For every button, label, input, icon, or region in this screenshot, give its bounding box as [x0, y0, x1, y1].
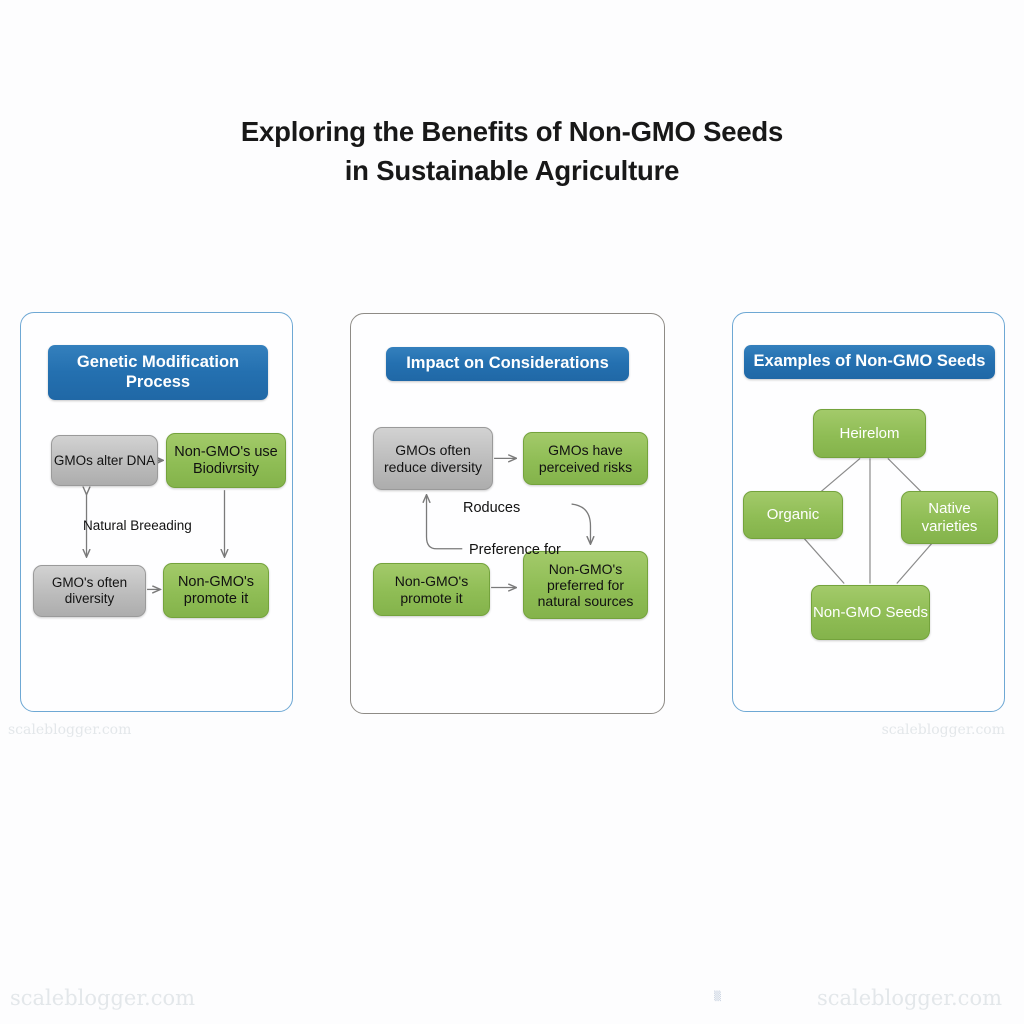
node-gmos-alter-dna[interactable]: GMOs alter DNA [51, 435, 158, 486]
node-gmos-often-diversity[interactable]: GMO's often diversity [33, 565, 146, 617]
node-heirloom[interactable]: Heirelom [813, 409, 926, 458]
node-nongmos-promote-it[interactable]: Non-GMO's promote it [373, 563, 490, 616]
node-gmos-have-perceived-risks[interactable]: GMOs have perceived risks [523, 432, 648, 485]
watermark-bottom-right: scaleblogger.com [817, 986, 1002, 1010]
panel-1-header: Genetic Modification Process [48, 345, 268, 400]
watermark-mid-right: scaleblogger.com [882, 722, 1005, 738]
node-gmos-often-reduce-diversity[interactable]: GMOs often reduce diversity [373, 427, 493, 490]
node-organic[interactable]: Organic [743, 491, 843, 539]
panel-genetic-modification-process: Genetic Modification Process GMOs alter … [20, 312, 293, 712]
edge-label-reduces: Roduces [463, 500, 520, 516]
node-nongmos-use-biodiversity[interactable]: Non-GMO's use Biodivrsity [166, 433, 286, 488]
node-native-varieties[interactable]: Native varieties [901, 491, 998, 544]
node-nongmo-seeds[interactable]: Non-GMO Seeds [811, 585, 930, 640]
page-title-line-1: Exploring the Benefits of Non-GMO Seeds [0, 112, 1024, 151]
watermark-center-mark: ▒ [714, 992, 720, 1002]
panel-impact-on-considerations: Impact on Considerations GMOs often redu… [350, 313, 665, 714]
panel-2-header: Impact on Considerations [386, 347, 629, 381]
node-nongmos-promote-it[interactable]: Non-GMO's promote it [163, 563, 269, 618]
watermark-mid-left: scaleblogger.com [8, 722, 131, 738]
panel-examples-of-nongmo-seeds: Examples of Non-GMO Seeds Heirelom Organ… [732, 312, 1005, 712]
edge-label-preference-for: Preference for [469, 542, 561, 558]
page-title: Exploring the Benefits of Non-GMO Seeds … [0, 112, 1024, 190]
node-nongmos-preferred-natural-sources[interactable]: Non-GMO's preferred for natural sources [523, 551, 648, 619]
page-title-line-2: in Sustainable Agriculture [0, 151, 1024, 190]
watermark-bottom-left: scaleblogger.com [10, 986, 195, 1010]
edge-label-natural-breeding: Natural Breeading [83, 518, 192, 533]
panel-3-header: Examples of Non-GMO Seeds [744, 345, 995, 379]
